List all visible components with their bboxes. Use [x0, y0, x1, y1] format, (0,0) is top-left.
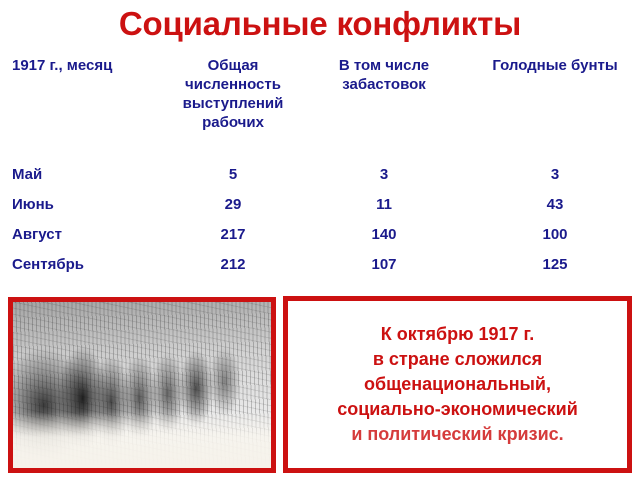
slide-root: Социальные конфликты 1917 г., месяц Обща… — [0, 0, 640, 480]
table-row: Сентябрь 212 107 125 — [0, 250, 640, 280]
cell-strikes: 140 — [298, 220, 470, 250]
cell-total: 217 — [168, 220, 298, 250]
cell-strikes: 107 — [298, 250, 470, 280]
table-row: Август 217 140 100 — [0, 220, 640, 250]
table-body: Май 5 3 3 Июнь 29 11 43 Август 217 140 1… — [0, 160, 640, 280]
table-header-row: 1917 г., месяц Общая численность выступл… — [0, 56, 640, 160]
cell-month: Июнь — [0, 190, 168, 220]
table-row: Май 5 3 3 — [0, 160, 640, 190]
conclusion-text: К октябрю 1917 г. в стране сложился обще… — [331, 322, 584, 447]
conclusion-line-1: К октябрю 1917 г. — [337, 322, 578, 347]
column-header-riots: Голодные бунты — [470, 56, 640, 160]
conclusion-line-4: социально-экономический — [337, 397, 578, 422]
table-row: Июнь 29 11 43 — [0, 190, 640, 220]
table-header: 1917 г., месяц Общая численность выступл… — [0, 56, 640, 160]
cell-total: 29 — [168, 190, 298, 220]
cell-total: 212 — [168, 250, 298, 280]
cell-riots: 100 — [470, 220, 640, 250]
cell-riots: 125 — [470, 250, 640, 280]
historical-illustration — [8, 297, 276, 473]
conclusion-line-3: общенациональный, — [337, 372, 578, 397]
cell-riots: 43 — [470, 190, 640, 220]
cell-strikes: 3 — [298, 160, 470, 190]
column-header-strikes: В том числе забастовок — [298, 56, 470, 160]
conclusion-line-2: в стране сложился — [337, 347, 578, 372]
illustration-foreground — [13, 412, 271, 468]
cell-month: Май — [0, 160, 168, 190]
page-title: Социальные конфликты — [0, 4, 640, 44]
cell-month: Сентябрь — [0, 250, 168, 280]
cell-total: 5 — [168, 160, 298, 190]
social-conflicts-table: 1917 г., месяц Общая численность выступл… — [0, 56, 640, 280]
cell-strikes: 11 — [298, 190, 470, 220]
conclusion-callout: К октябрю 1917 г. в стране сложился обще… — [283, 296, 632, 473]
cell-month: Август — [0, 220, 168, 250]
cell-riots: 3 — [470, 160, 640, 190]
column-header-month: 1917 г., месяц — [0, 56, 168, 160]
conclusion-line-5: и политический кризис. — [337, 422, 578, 447]
column-header-total: Общая численность выступлений рабочих — [168, 56, 298, 160]
